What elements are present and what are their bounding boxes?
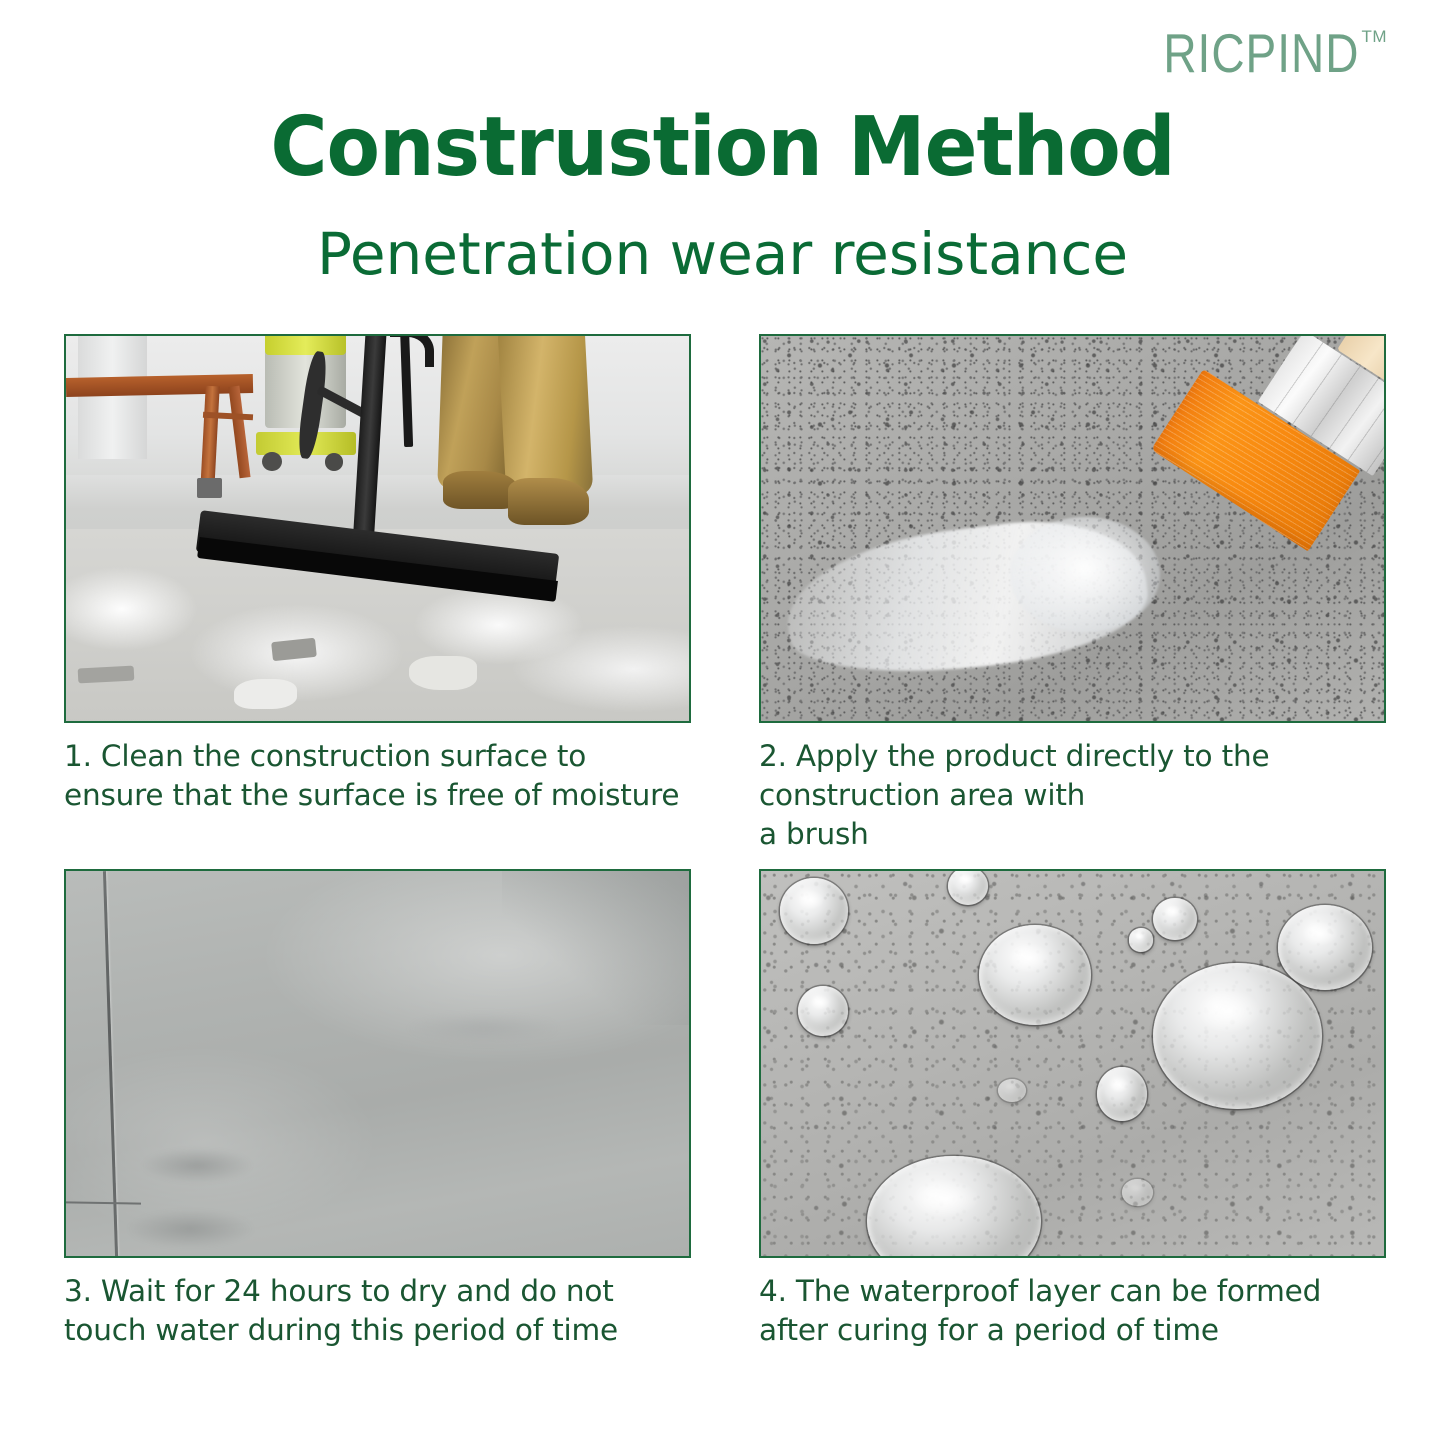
water-bead [1278, 905, 1371, 990]
floor-highlight-smudge [409, 1013, 559, 1044]
page-title: Construstion Method [36, 104, 1409, 193]
water-bead [780, 878, 849, 943]
water-bead [998, 1079, 1026, 1102]
floor-smudge-2 [128, 1210, 253, 1249]
page-subtitle: Penetration wear resistance [0, 222, 1445, 287]
sawhorse-foot [197, 478, 222, 497]
p1-wall-stripe [78, 336, 147, 459]
squeegee-pole-bend [390, 334, 434, 367]
step-3-caption: 3. Wait for 24 hours to dry and do not t… [64, 1272, 691, 1350]
step-1-caption: 1. Clean the construction surface to ens… [64, 737, 691, 815]
floor-smudge-1 [141, 1148, 253, 1183]
step-4-image [759, 869, 1386, 1258]
applied-liquid-pool [1010, 517, 1160, 633]
step-card-4: 4. The waterproof layer can be formed af… [759, 869, 1386, 1350]
floor-shadow-gradient [502, 871, 689, 1025]
vacuum-top [265, 334, 346, 355]
step-2-caption: 2. Apply the product directly to the con… [759, 737, 1386, 855]
debris-chunk-3 [409, 656, 478, 691]
step-4-caption: 4. The waterproof layer can be formed af… [759, 1272, 1386, 1350]
step-2-image [759, 334, 1386, 723]
water-bead [1097, 1067, 1147, 1121]
step-3-image [64, 869, 691, 1258]
water-bead [1153, 898, 1197, 940]
water-bead [1129, 928, 1154, 951]
water-bead [1122, 1179, 1153, 1206]
trademark-icon: TM [1361, 28, 1387, 45]
floor-seam-line-horizontal [66, 1201, 141, 1204]
steps-grid: 1. Clean the construction surface to ens… [64, 334, 1386, 1350]
brand-logo: RICPIND TM [1163, 26, 1387, 72]
step-1-image [64, 334, 691, 723]
infographic-page: RICPIND TM Construstion Method Penetrati… [0, 0, 1445, 1445]
step-card-1: 1. Clean the construction surface to ens… [64, 334, 691, 855]
water-bead [979, 925, 1091, 1025]
vacuum-wheel-1 [262, 452, 282, 471]
brand-name: RICPIND [1163, 26, 1359, 80]
debris-chunk-4 [234, 679, 296, 710]
worker-right-pant-leg [498, 334, 594, 500]
worker-right-boot [508, 478, 589, 524]
floor-seam-line [103, 871, 118, 1256]
worker-left-boot [443, 471, 518, 510]
step-card-3: 3. Wait for 24 hours to dry and do not t… [64, 869, 691, 1350]
step-card-2: 2. Apply the product directly to the con… [759, 334, 1386, 855]
water-bead [1153, 963, 1321, 1109]
